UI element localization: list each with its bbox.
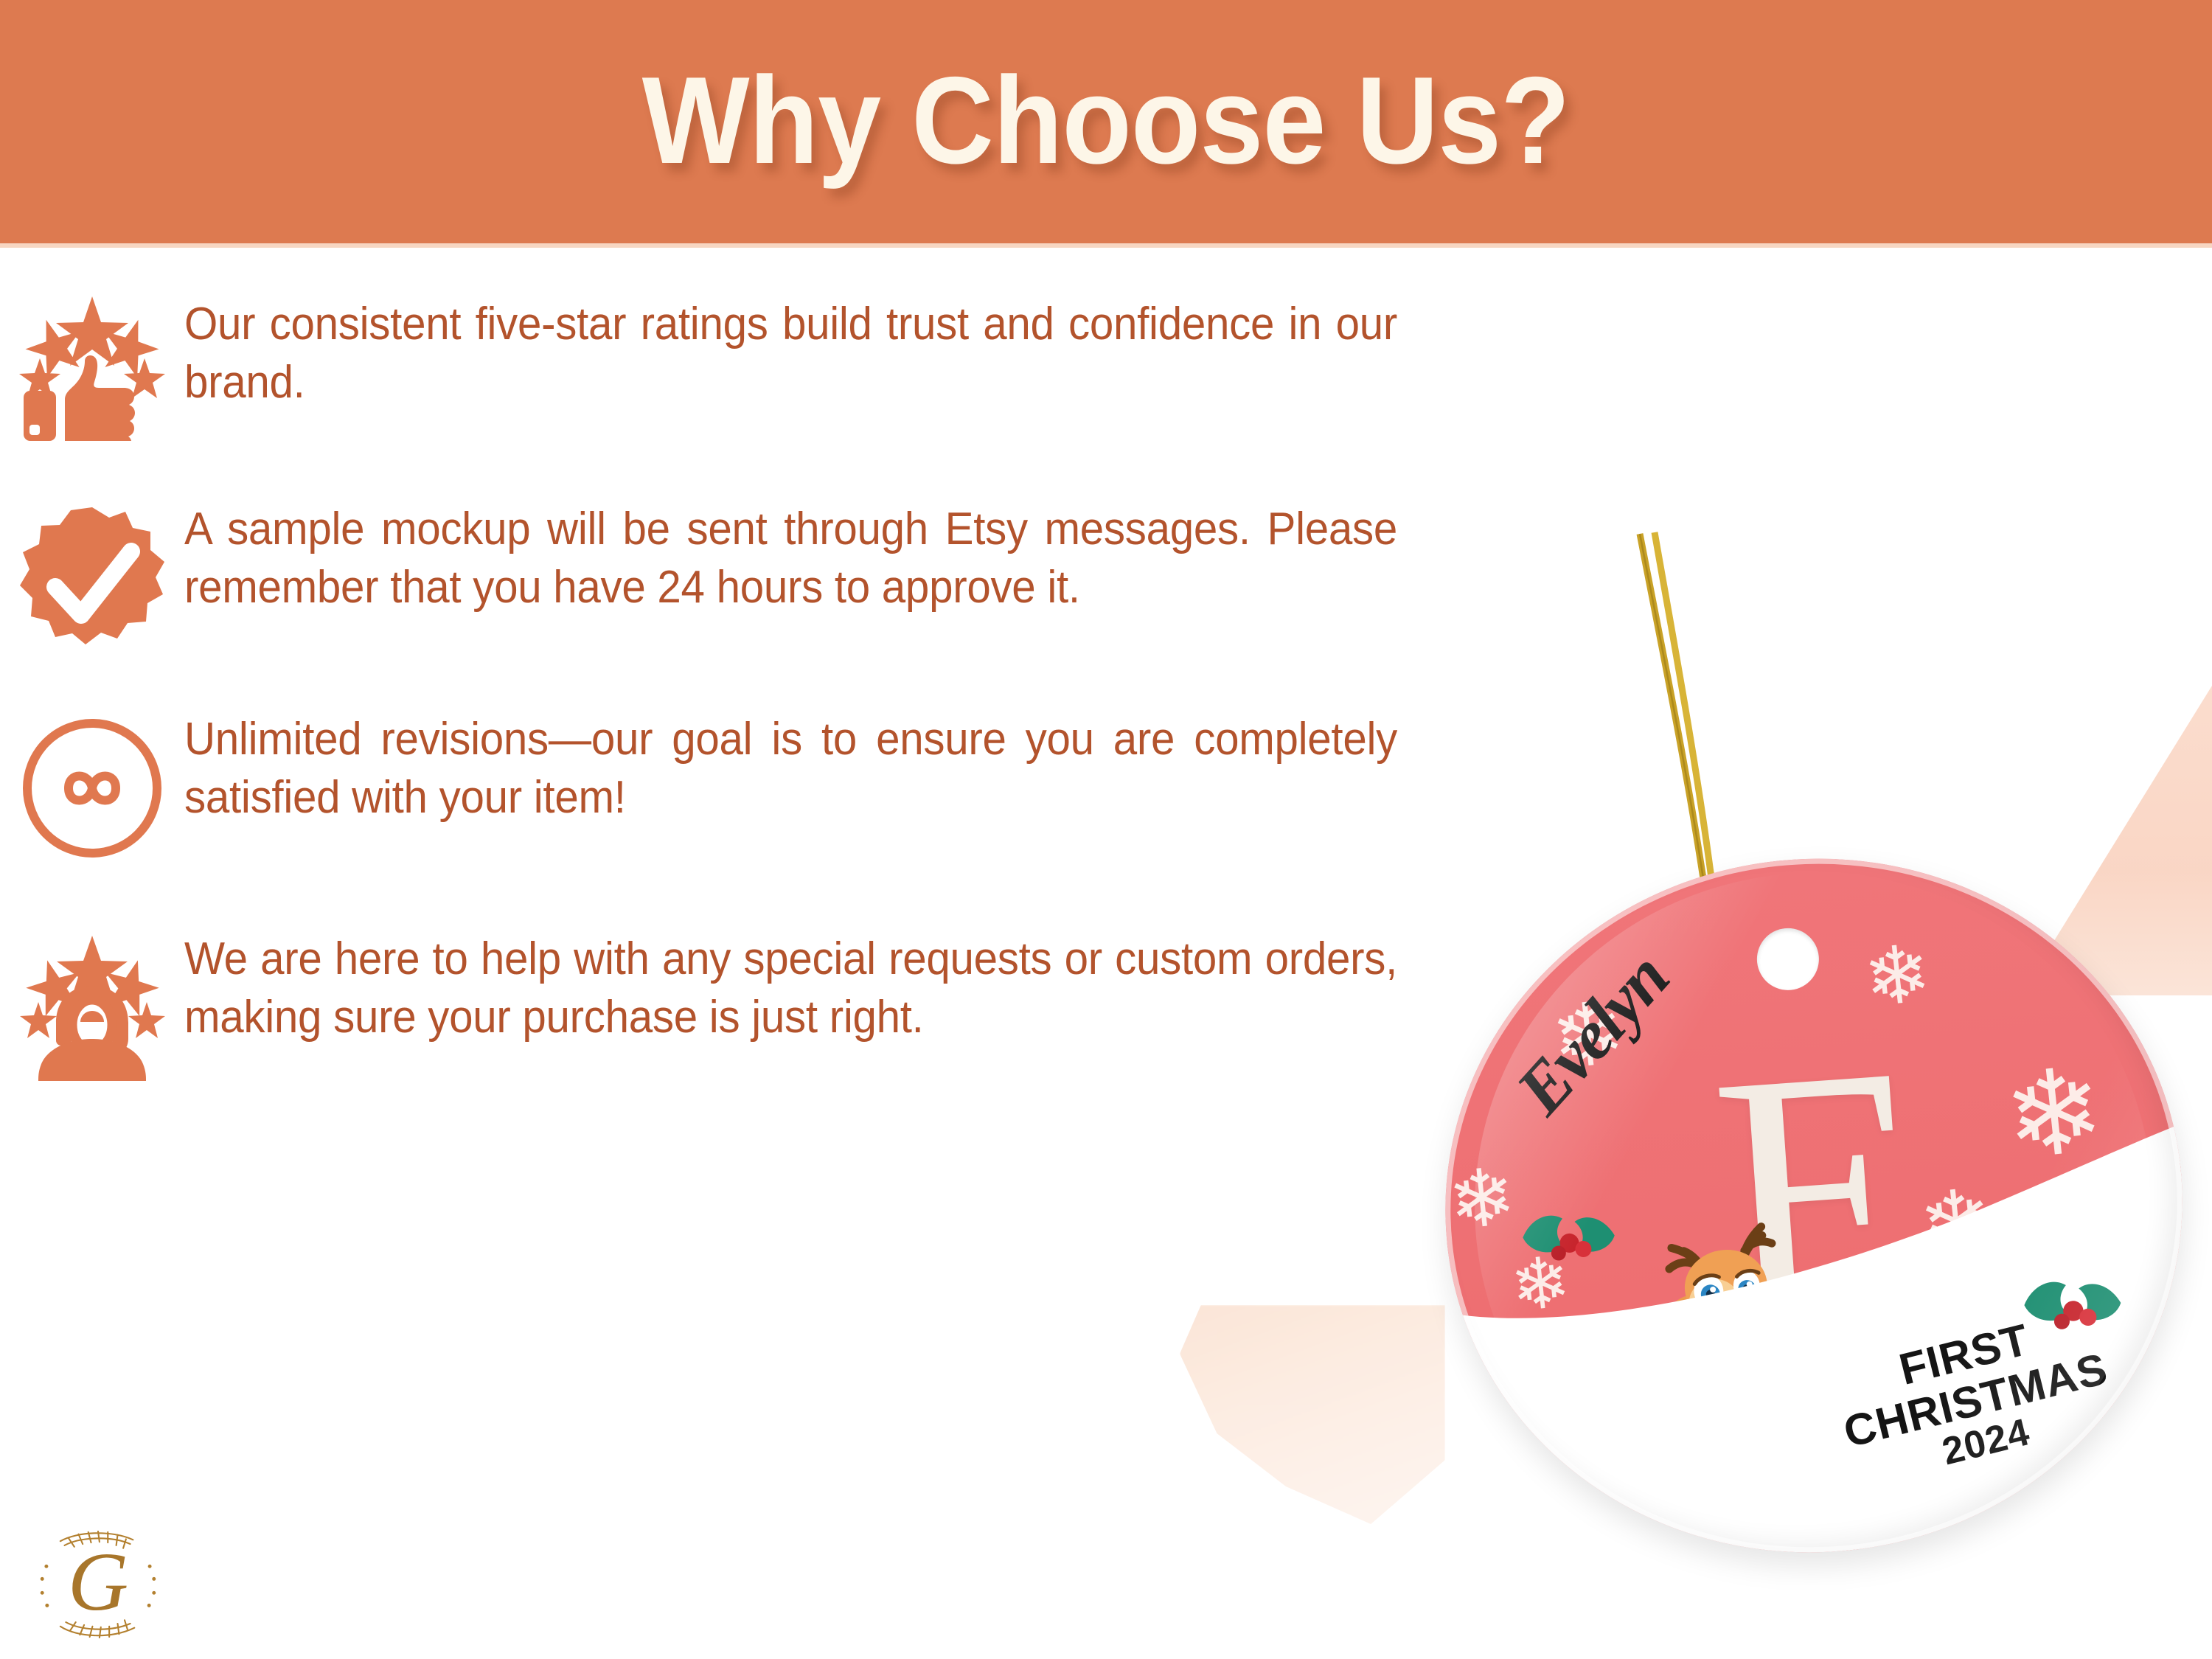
infinity-circle-icon	[0, 710, 184, 862]
customer-support-agent-stars-icon	[0, 930, 184, 1093]
list-item: Unlimited revisions—our goal is to ensur…	[0, 710, 1519, 862]
five-star-thumbs-up-icon	[0, 295, 184, 442]
ornament-disc: ❄ ❄ ❄ ❄ ❄ ❄ E	[1411, 822, 2212, 1588]
header-band: Why Choose Us?	[0, 0, 2212, 243]
page-title: Why Choose Us?	[642, 58, 1570, 182]
list-item: Our consistent five-star ratings build t…	[0, 295, 1519, 442]
list-item: A sample mockup will be sent through Ets…	[0, 500, 1519, 663]
slide-root: Why Choose Us?	[0, 0, 2212, 1659]
benefits-list: Our consistent five-star ratings build t…	[0, 295, 1519, 1134]
ornament-hanging-cord	[1630, 531, 1733, 914]
holly-berry-icon	[2014, 1262, 2132, 1346]
verified-badge-check-icon	[0, 500, 184, 663]
logo-monogram-letter: G	[68, 1535, 128, 1628]
list-item-label: A sample mockup will be sent through Ets…	[184, 500, 1439, 617]
brand-logo: G	[28, 1517, 168, 1650]
list-item-label: Unlimited revisions—our goal is to ensur…	[184, 710, 1439, 827]
list-item: We are here to help with any special req…	[0, 930, 1519, 1093]
list-item-label: We are here to help with any special req…	[184, 930, 1439, 1047]
list-item-label: Our consistent five-star ratings build t…	[184, 295, 1439, 412]
ornament-snow-band	[1411, 822, 2212, 1588]
